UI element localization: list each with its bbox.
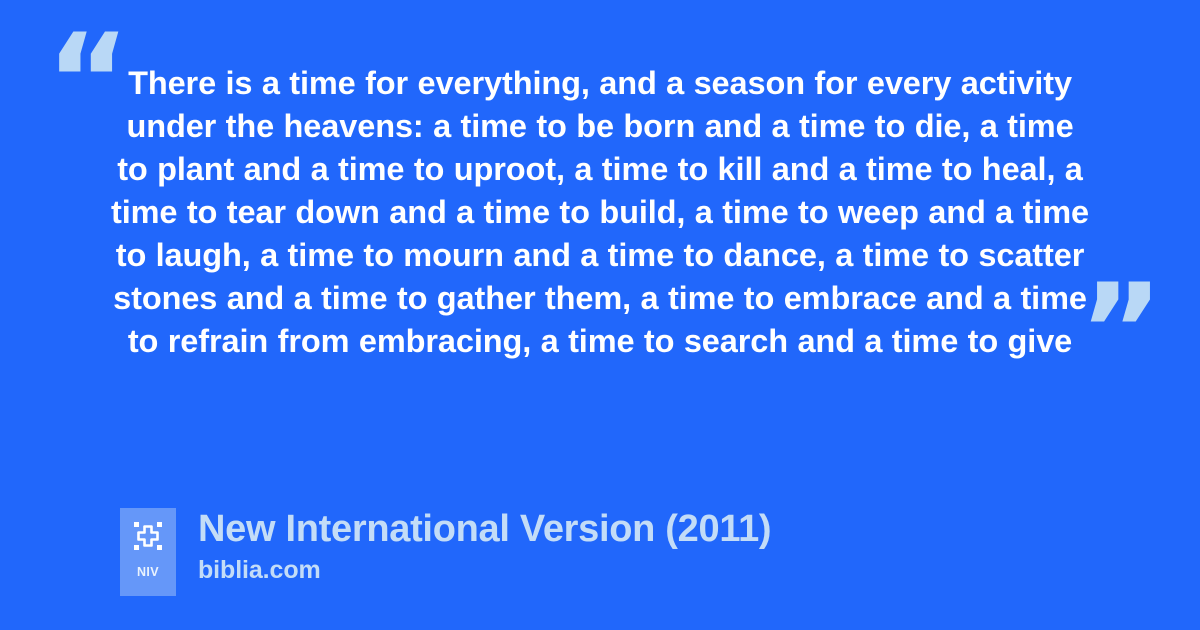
attribution-text: New International Version (2011) biblia.…	[198, 508, 771, 586]
niv-logo: NIV	[120, 508, 176, 596]
site-url[interactable]: biblia.com	[198, 554, 771, 586]
cross-crop-marks-icon	[134, 522, 162, 555]
niv-logo-label: NIV	[137, 565, 159, 579]
version-title: New International Version (2011)	[198, 506, 771, 552]
attribution: NIV New International Version (2011) bib…	[120, 508, 771, 596]
closing-quote-icon: ”	[1079, 268, 1161, 396]
quote-card: “ There is a time for everything, and a …	[0, 0, 1200, 630]
quote-text: There is a time for everything, and a se…	[110, 62, 1090, 363]
